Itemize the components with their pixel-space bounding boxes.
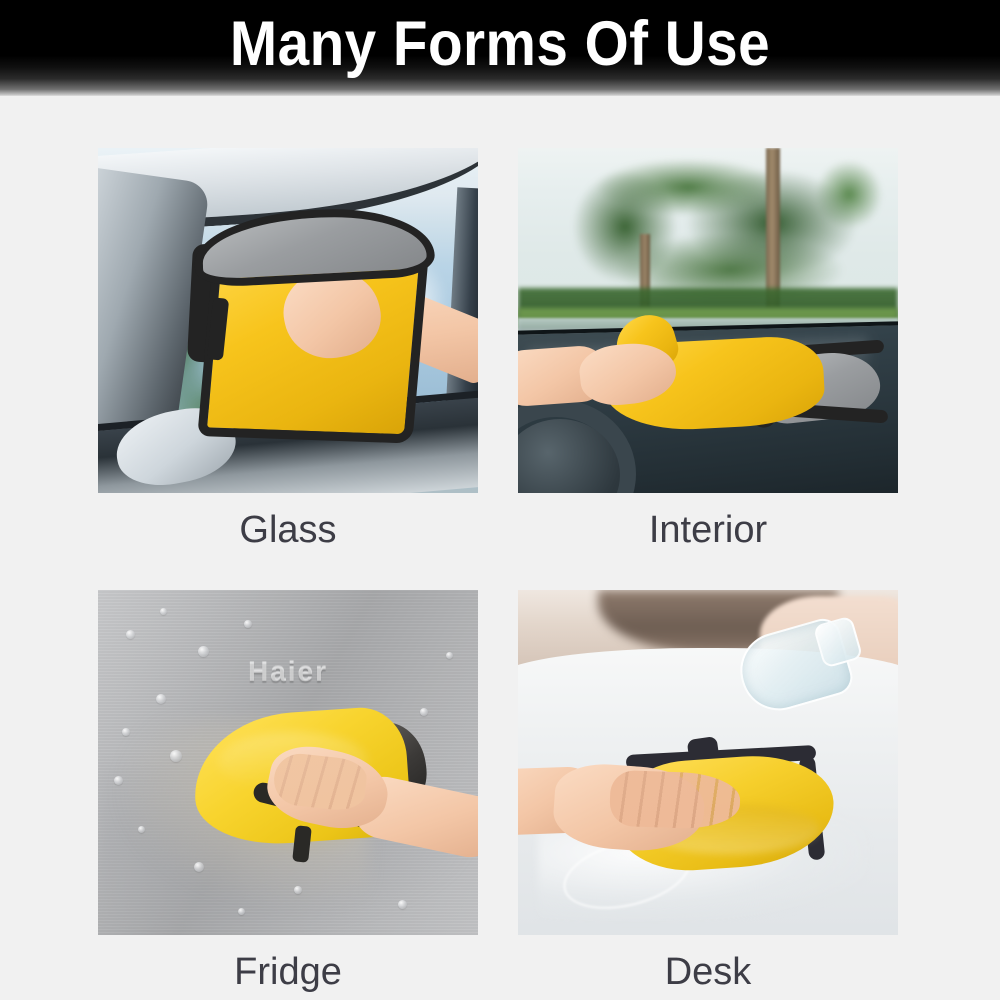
water-droplet bbox=[170, 750, 182, 762]
caption-glass: Glass bbox=[98, 493, 478, 561]
photo-glass bbox=[98, 148, 478, 493]
page-title: Many Forms Of Use bbox=[50, 8, 950, 80]
use-case-tile-fridge[interactable]: Haier bbox=[98, 590, 478, 1000]
water-droplet bbox=[160, 608, 167, 615]
infographic-page: Many Forms Of Use Glass bbox=[0, 0, 1000, 1000]
use-case-grid: Glass bbox=[98, 148, 898, 1000]
water-droplet bbox=[194, 862, 204, 872]
water-droplet bbox=[126, 630, 135, 639]
caption-desk: Desk bbox=[518, 935, 898, 1000]
water-droplet bbox=[198, 646, 209, 657]
photo-interior bbox=[518, 148, 898, 493]
use-case-tile-desk[interactable]: Desk bbox=[518, 590, 898, 1000]
water-droplet bbox=[156, 694, 166, 704]
photo-desk bbox=[518, 590, 898, 935]
water-droplet bbox=[114, 776, 123, 785]
water-droplet bbox=[446, 652, 453, 659]
fridge-brand-text: Haier bbox=[98, 656, 478, 688]
water-droplet bbox=[122, 728, 130, 736]
water-droplet bbox=[238, 908, 245, 915]
caption-fridge: Fridge bbox=[98, 935, 478, 1000]
tree-trunk bbox=[766, 148, 780, 308]
header-banner: Many Forms Of Use bbox=[0, 0, 1000, 96]
caption-interior: Interior bbox=[518, 493, 898, 561]
use-case-tile-glass[interactable]: Glass bbox=[98, 148, 478, 561]
photo-fridge: Haier bbox=[98, 590, 478, 935]
water-droplet bbox=[138, 826, 145, 833]
water-droplet bbox=[244, 620, 252, 628]
water-droplet bbox=[294, 886, 302, 894]
use-case-tile-interior[interactable]: Interior bbox=[518, 148, 898, 561]
water-droplet bbox=[420, 708, 428, 716]
water-droplet bbox=[398, 900, 407, 909]
